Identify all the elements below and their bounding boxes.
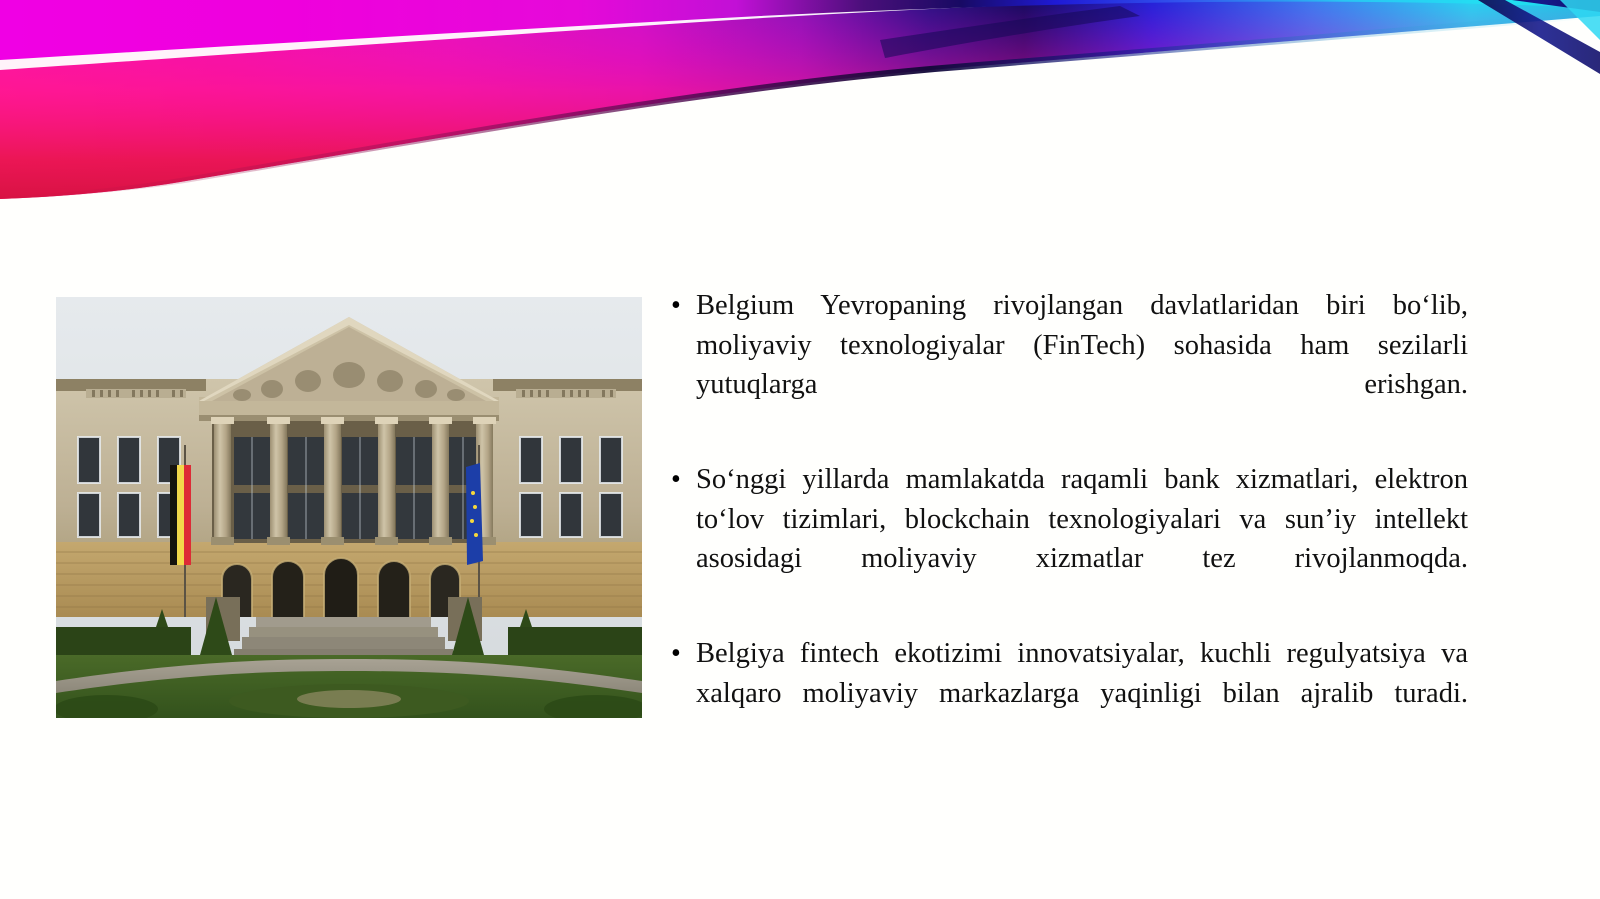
list-item: • Belgium Yevropaning rivojlangan davlat… xyxy=(662,286,1468,444)
wave-cyan-corner xyxy=(1560,0,1600,40)
bullet-text: Belgium Yevropaning rivojlangan davlatla… xyxy=(696,286,1468,444)
presentation-slide: • Belgium Yevropaning rivojlangan davlat… xyxy=(0,0,1600,899)
bullet-point-icon: • xyxy=(662,460,696,499)
bullet-point-icon: • xyxy=(662,286,696,325)
wave-vertical-shade xyxy=(0,0,1600,199)
bullet-text: So‘nggi yillarda mamlakatda raqamli bank… xyxy=(696,460,1468,618)
list-item: • So‘nggi yillarda mamlakatda raqamli ba… xyxy=(662,460,1468,618)
wave-upper-ribbon xyxy=(0,0,1600,60)
photo-left-hedge xyxy=(56,627,191,659)
photo-flower-bed-center xyxy=(297,690,401,708)
wave-white-split xyxy=(0,0,1330,70)
wave-dark-edge xyxy=(0,10,1600,199)
bullet-point-icon: • xyxy=(662,634,696,673)
bullet-text: Belgiya fintech ekotizimi innovatsiyalar… xyxy=(696,634,1468,753)
bullet-text-column: • Belgium Yevropaning rivojlangan davlat… xyxy=(662,286,1468,753)
wave-mid-navy-wedge xyxy=(880,6,1140,58)
decorative-wave-banner xyxy=(0,0,1600,200)
photo-right-hedge xyxy=(508,627,642,659)
list-item: • Belgiya fintech ekotizimi innovatsiyal… xyxy=(662,634,1468,753)
wave-navy-diagonal xyxy=(1478,0,1600,74)
wave-navy-accent-right xyxy=(1470,0,1600,12)
wave-lower-ribbon xyxy=(0,0,1600,199)
palace-of-the-nation-photo xyxy=(56,297,642,718)
photo-entrance-steps xyxy=(234,617,453,661)
